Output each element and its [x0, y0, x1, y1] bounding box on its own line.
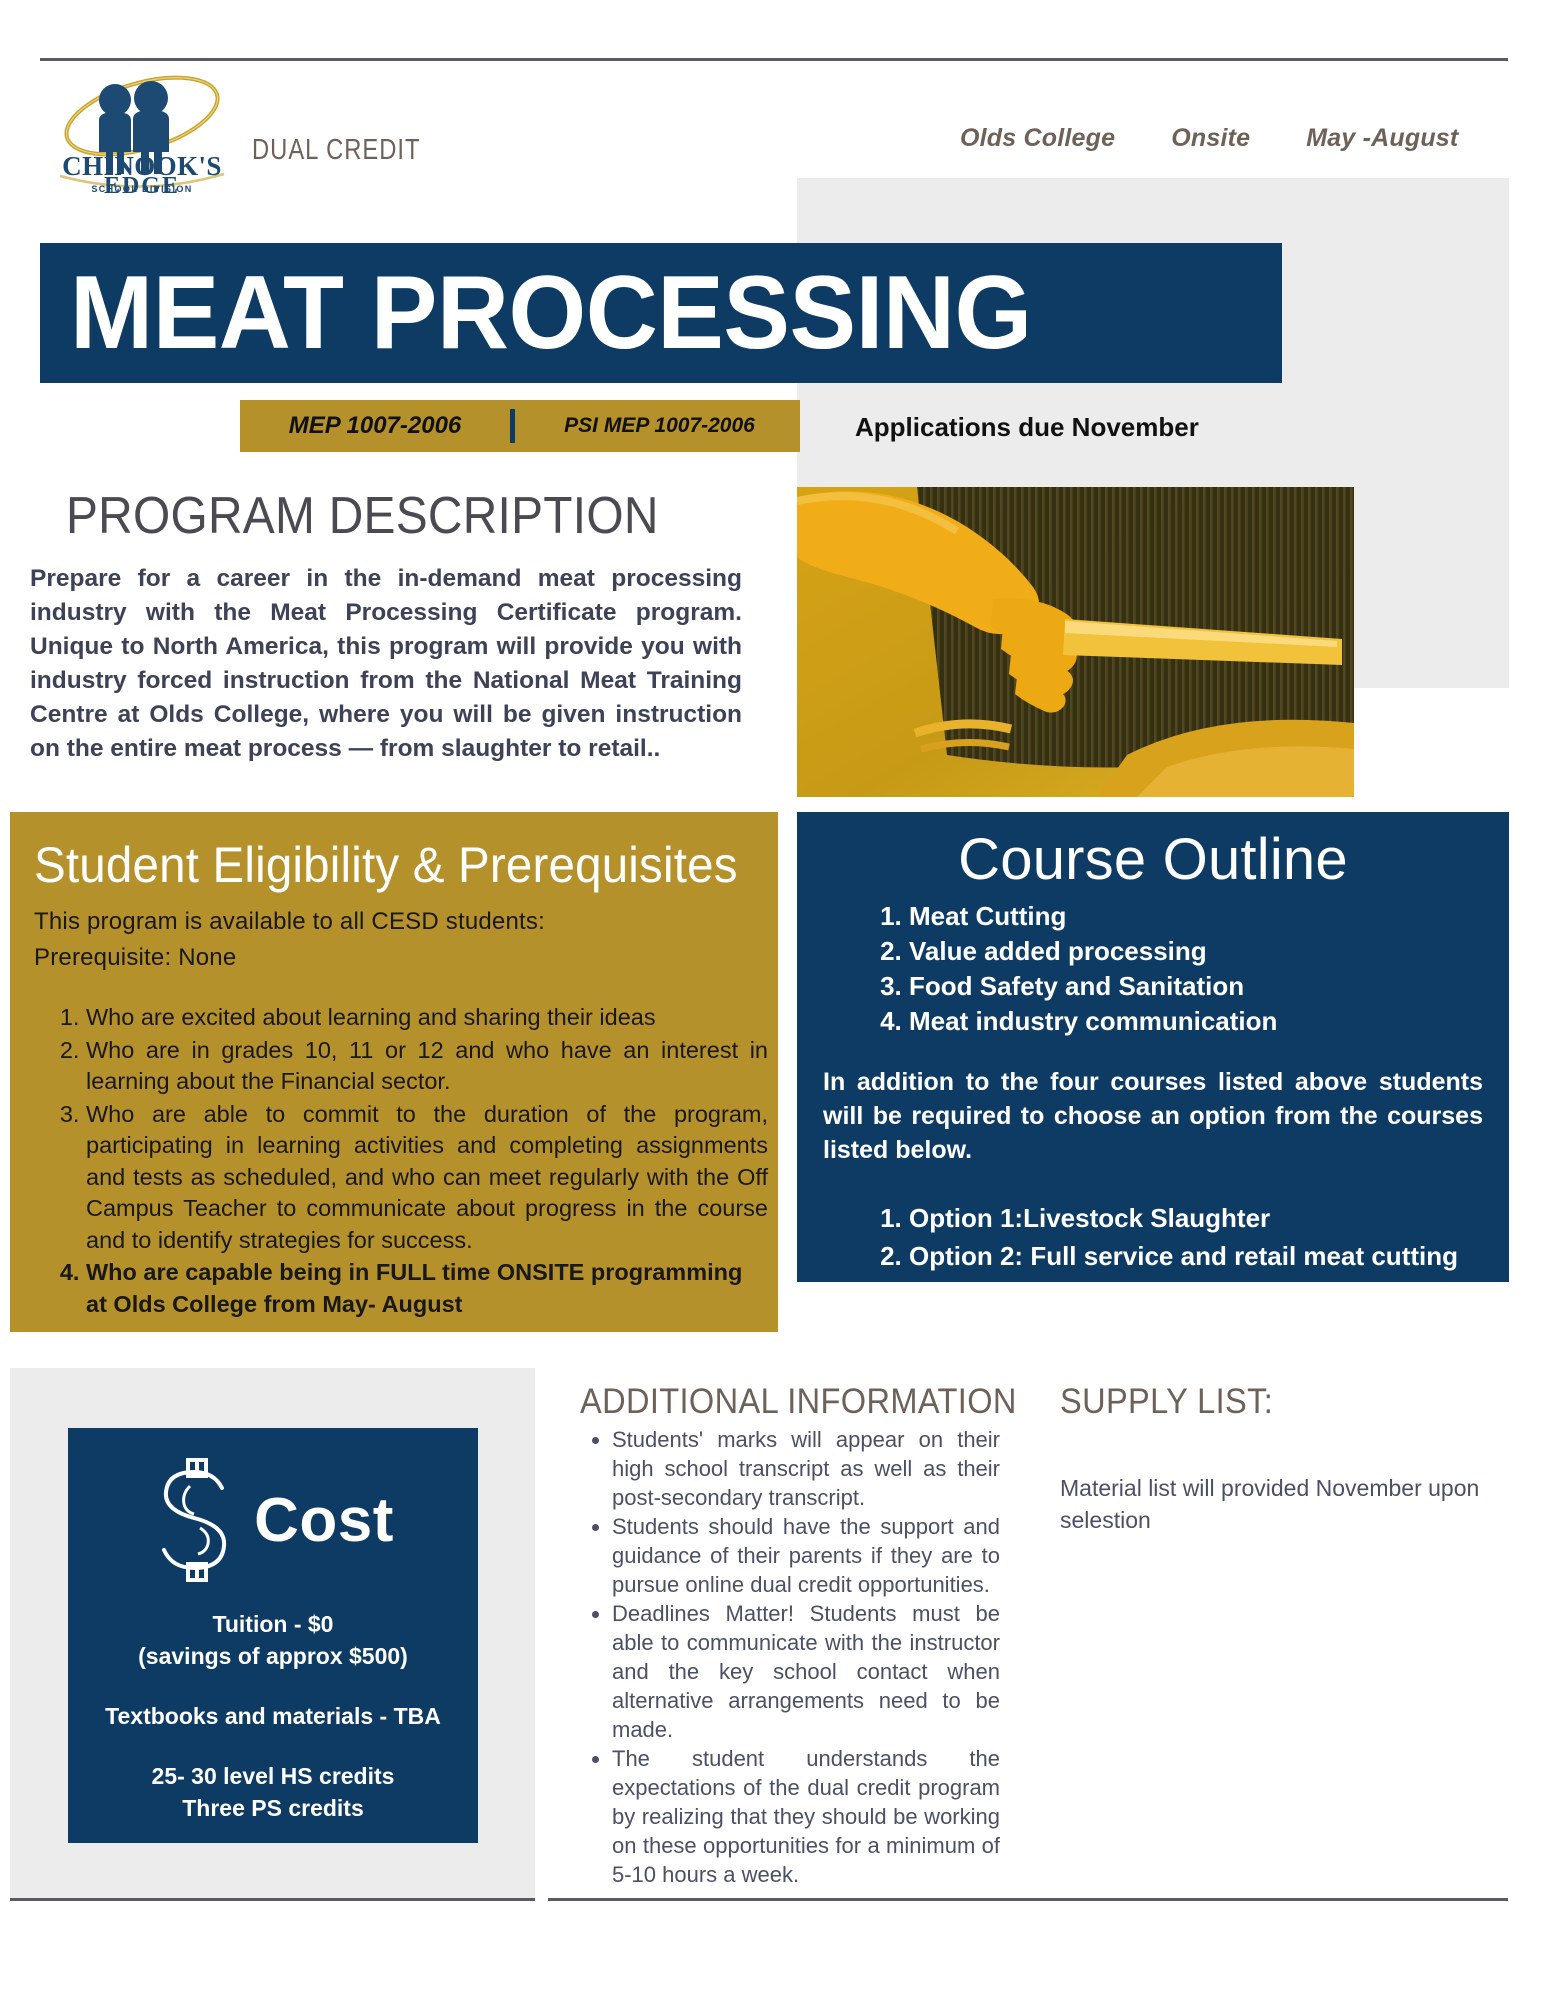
course-code-right: PSI MEP 1007-2006	[515, 414, 800, 438]
bottom-divider-left	[10, 1898, 535, 1901]
list-item: Option 2: Full service and retail meat c…	[909, 1237, 1509, 1275]
chinooks-edge-logo: CHINOOK'S EDGE SCHOOL DIVISION	[42, 72, 242, 194]
header-meta: Olds College Onsite May -August	[960, 124, 1520, 153]
page-title: MEAT PROCESSING	[70, 261, 1032, 365]
photo-illustration	[797, 487, 1354, 797]
meat-processing-photo	[797, 487, 1354, 797]
list-item: Who are in grades 10, 11 or 12 and who h…	[86, 1035, 768, 1098]
cost-header: Cost	[68, 1428, 478, 1586]
cost-textbooks: Textbooks and materials - TBA	[68, 1700, 478, 1732]
dollar-sign-icon	[152, 1454, 238, 1586]
title-band: MEAT PROCESSING	[40, 243, 1282, 383]
bottom-divider-right	[548, 1898, 1508, 1901]
course-code-band: MEP 1007-2006 PSI MEP 1007-2006	[240, 400, 800, 452]
course-outline-section: Course Outline Meat Cutting Value added …	[797, 812, 1509, 1282]
eligibility-heading: Student Eligibility & Prerequisites	[34, 836, 738, 894]
list-item: Who are able to commit to the duration o…	[86, 1099, 768, 1257]
dual-credit-label: DUAL CREDIT	[252, 134, 420, 167]
course-outline-options: Option 1:Livestock Slaughter Option 2: F…	[867, 1199, 1509, 1275]
cost-tuition: Tuition - $0	[68, 1608, 478, 1640]
eligibility-prerequisite: Prerequisite: None	[34, 944, 236, 972]
course-outline-heading: Course Outline	[797, 812, 1509, 893]
cost-ps-credits: Three PS credits	[68, 1792, 478, 1824]
additional-information-heading: ADDITIONAL INFORMATION	[580, 1382, 1017, 1422]
list-item: Who are excited about learning and shari…	[86, 1002, 768, 1034]
list-item: Who are capable being in FULL time ONSIT…	[86, 1257, 768, 1320]
eligibility-section: Student Eligibility & Prerequisites This…	[10, 812, 778, 1332]
top-divider	[40, 58, 1508, 61]
header-meta-delivery: Onsite	[1171, 124, 1250, 153]
additional-information-list: Students' marks will appear on their hig…	[580, 1425, 1000, 1889]
cost-hs-credits: 25- 30 level HS credits	[68, 1760, 478, 1792]
list-item: Food Safety and Sanitation	[909, 969, 1509, 1004]
logo-tagline: SCHOOL DIVISION	[42, 184, 242, 194]
cost-heading: Cost	[254, 1485, 394, 1556]
program-description-heading: PROGRAM DESCRIPTION	[66, 486, 659, 546]
cost-savings: (savings of approx $500)	[68, 1640, 478, 1672]
cost-section: Cost Tuition - $0 (savings of approx $50…	[68, 1428, 478, 1843]
poster-page: CHINOOK'S EDGE SCHOOL DIVISION DUAL CRED…	[0, 0, 1545, 2000]
logo-icon: CHINOOK'S EDGE	[42, 72, 242, 194]
list-item: Option 1:Livestock Slaughter	[909, 1199, 1509, 1237]
eligibility-intro: This program is available to all CESD st…	[34, 908, 545, 936]
list-item: Students should have the support and gui…	[612, 1512, 1000, 1599]
supply-list-body: Material list will provided November upo…	[1060, 1472, 1480, 1536]
list-item: Value added processing	[909, 934, 1509, 969]
list-item: Deadlines Matter! Students must be able …	[612, 1599, 1000, 1744]
list-item: Students' marks will appear on their hig…	[612, 1425, 1000, 1512]
eligibility-list: Who are excited about learning and shari…	[46, 1002, 768, 1321]
course-code-left: MEP 1007-2006	[240, 412, 510, 440]
course-outline-list: Meat Cutting Value added processing Food…	[867, 899, 1509, 1039]
header-meta-dates: May -August	[1306, 124, 1458, 153]
cost-details: Tuition - $0 (savings of approx $500) Te…	[68, 1608, 478, 1824]
course-outline-note: In addition to the four courses listed a…	[823, 1065, 1483, 1167]
supply-list-heading: SUPPLY LIST:	[1060, 1382, 1273, 1422]
list-item: Meat industry communication	[909, 1004, 1509, 1039]
list-item: Meat Cutting	[909, 899, 1509, 934]
program-description-body: Prepare for a career in the in-demand me…	[30, 562, 742, 766]
list-item: The student understands the expectations…	[612, 1744, 1000, 1889]
applications-due-label: Applications due November	[855, 412, 1199, 443]
header-meta-college: Olds College	[960, 124, 1115, 153]
